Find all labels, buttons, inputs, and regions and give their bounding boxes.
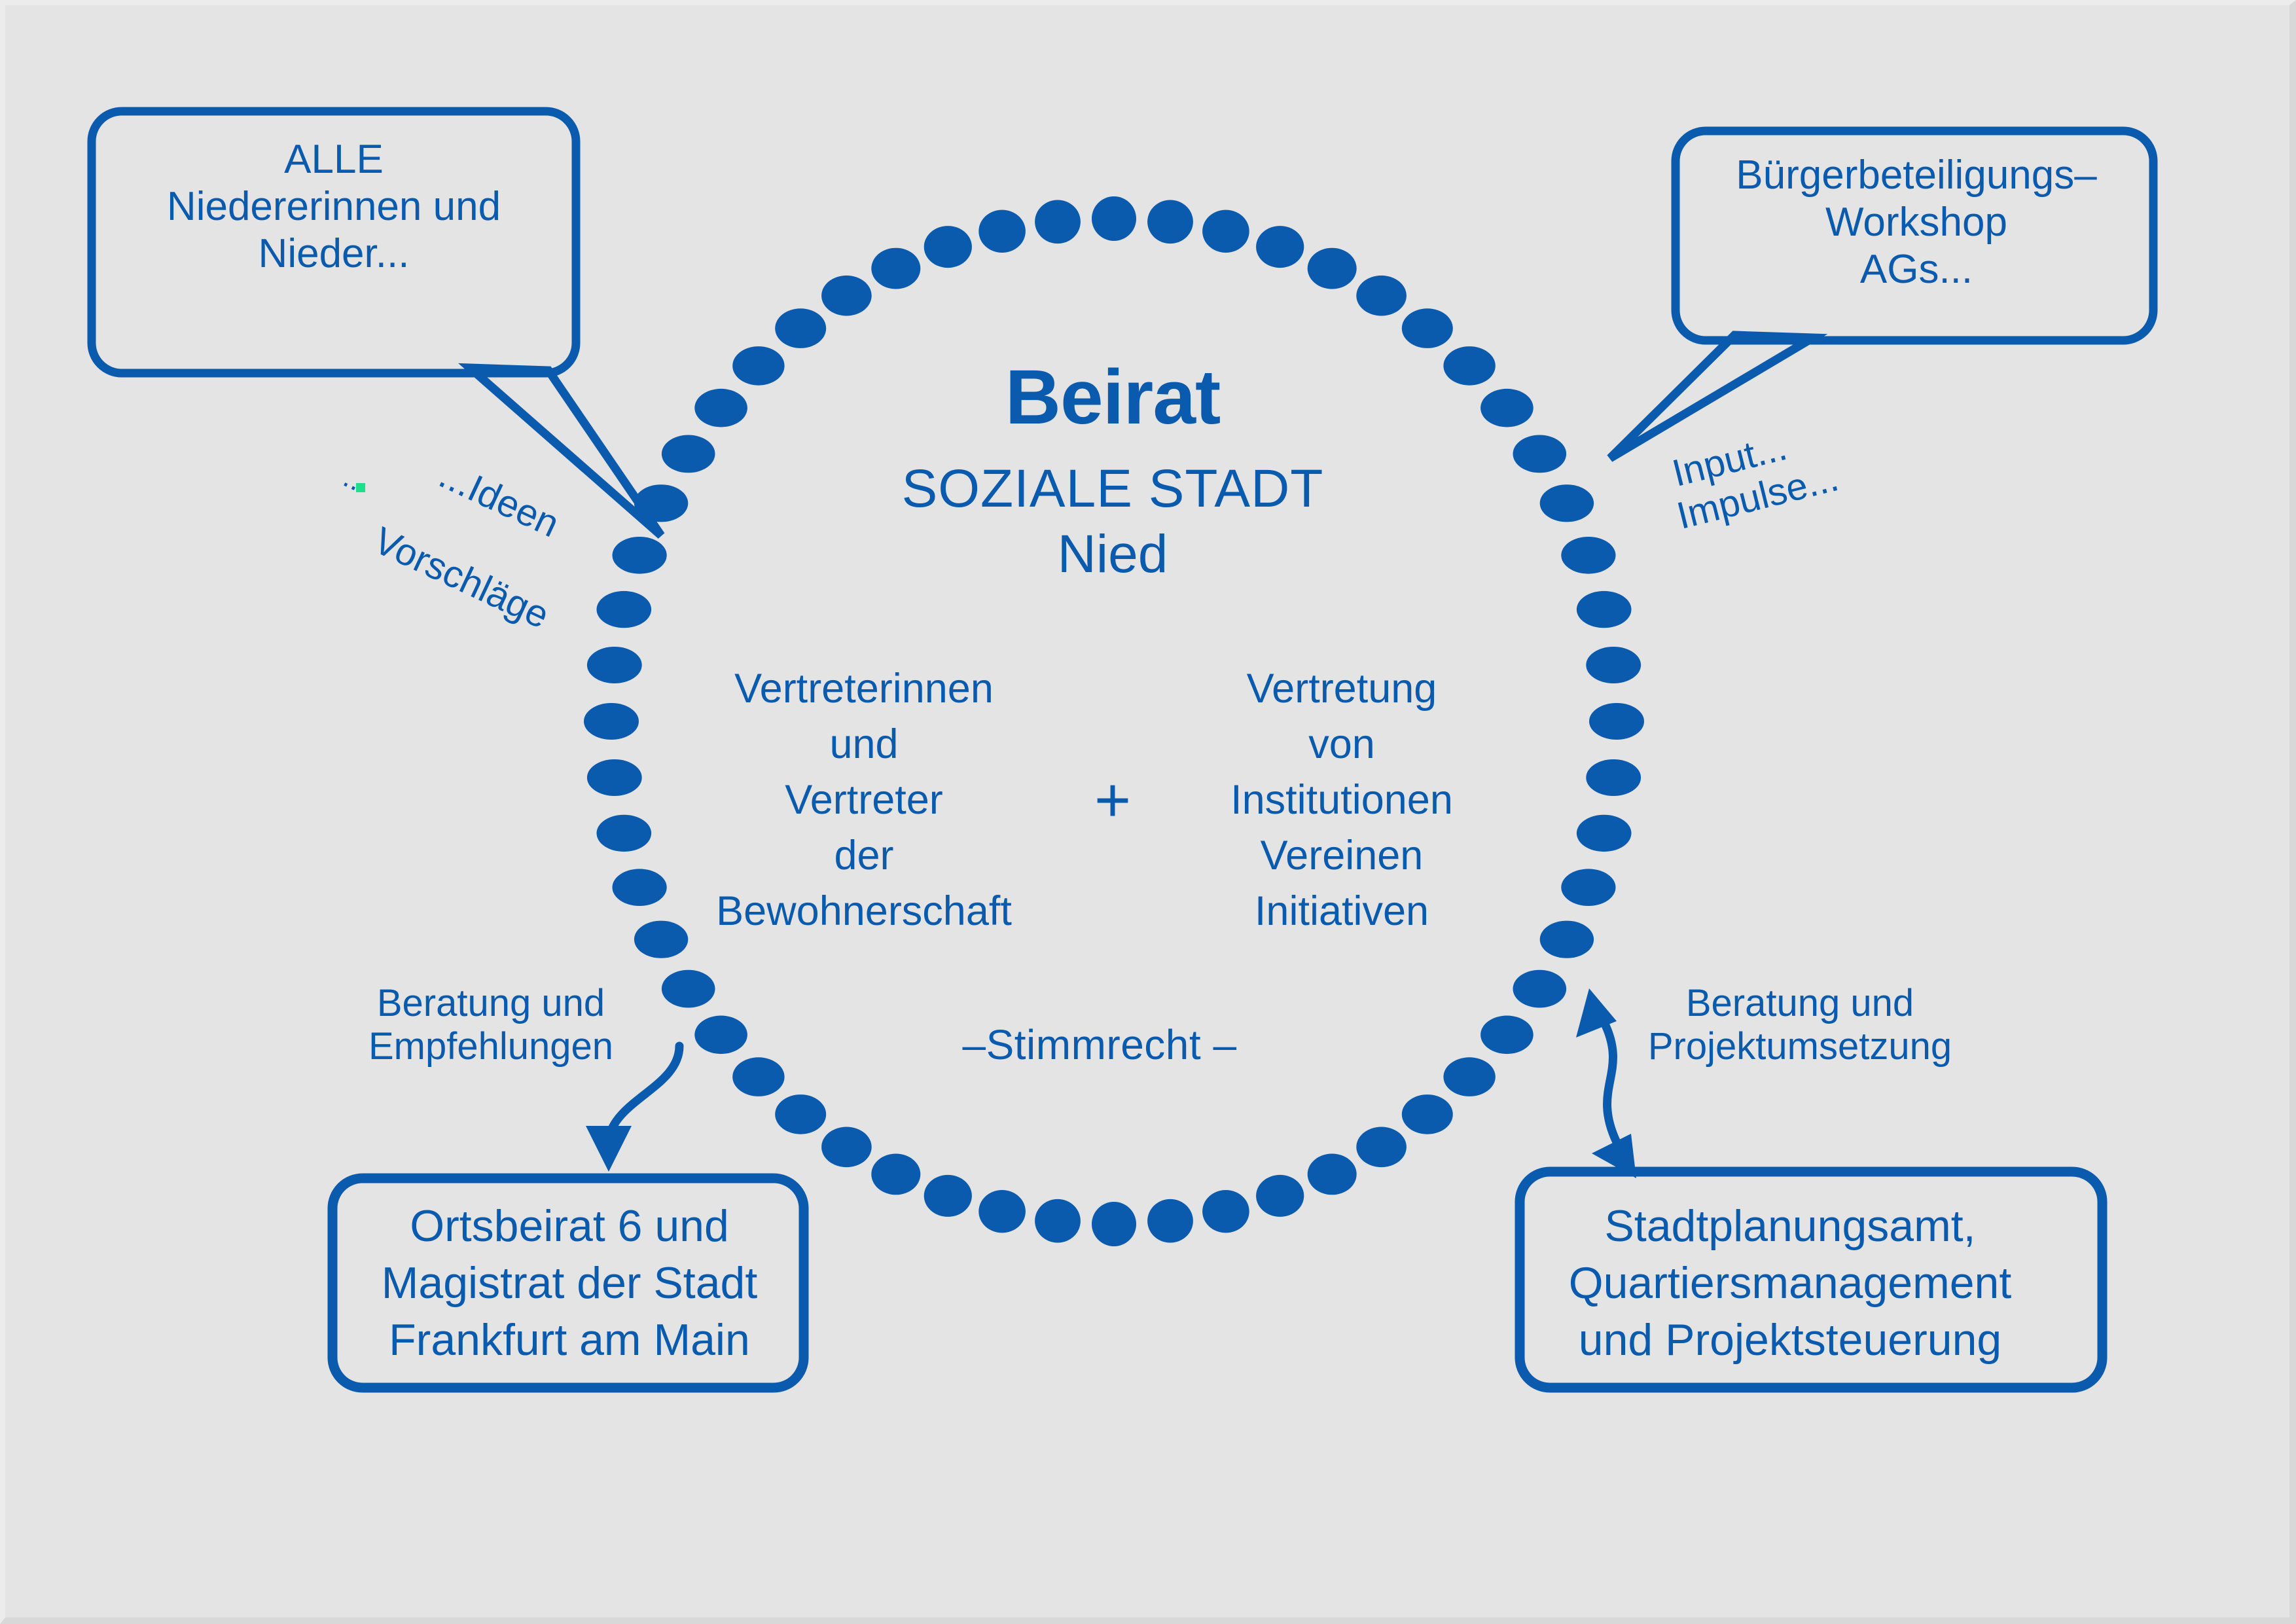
ring-dot <box>1202 210 1249 253</box>
ring-dot <box>1589 703 1644 740</box>
ring-dot <box>732 1057 784 1096</box>
ring-dot <box>1561 869 1615 906</box>
diagram-canvas: ALLE Niedererinnen und Nieder... Bürgerb… <box>0 0 2296 1624</box>
ring-dot <box>694 389 747 427</box>
ring-dot <box>1540 484 1594 522</box>
ring-dot <box>1561 537 1615 574</box>
ring-dot <box>1092 196 1136 241</box>
ring-dot <box>1586 647 1641 683</box>
ring-dot <box>587 759 642 796</box>
ring-dot <box>821 1127 872 1168</box>
ring-dot <box>1513 435 1567 473</box>
ring-dot <box>587 647 642 683</box>
ring-dot <box>978 210 1026 253</box>
ring-dot <box>1147 1199 1193 1243</box>
ring-dot <box>1202 1190 1249 1233</box>
speech-bubble-right-text: Bürgerbeteiligungs– Workshop AGs... <box>1687 152 2145 293</box>
ring-dot <box>1443 1057 1495 1096</box>
ring-dot <box>871 1154 920 1195</box>
ring-dot <box>1577 591 1632 628</box>
center-title: Beirat <box>812 353 1414 442</box>
annotation-beratung-empfehlungen: Beratung und Empfehlungen <box>327 982 655 1068</box>
center-column-right: Vertretung von Institutionen Vereinen In… <box>1178 661 1505 939</box>
plus-operator: + <box>1060 769 1165 832</box>
ring-dot <box>1035 1199 1081 1243</box>
ring-dot <box>775 1094 826 1134</box>
ring-dot <box>1308 1154 1357 1195</box>
ring-dot <box>821 276 872 316</box>
ring-dot <box>1577 815 1632 852</box>
ring-dot <box>1480 389 1534 427</box>
ring-dot <box>1356 276 1407 316</box>
ring-dot <box>1356 1127 1407 1168</box>
ring-dot <box>597 815 652 852</box>
ring-dot <box>1480 1016 1534 1055</box>
ring-dot <box>1147 200 1193 244</box>
ring-dot <box>694 1016 747 1055</box>
center-subtitle-line2: Nied <box>812 524 1414 585</box>
ring-dot <box>584 703 639 740</box>
ring-dot <box>924 226 972 268</box>
stimmrecht-label: –Stimmrecht – <box>916 1021 1283 1069</box>
ring-dot <box>1540 921 1594 958</box>
center-column-left: Vertreterinnen und Vertreter der Bewohne… <box>681 661 1047 939</box>
ring-dot <box>1256 226 1304 268</box>
ring-dot <box>634 921 688 958</box>
ring-dot <box>613 869 667 906</box>
ring-dot <box>1513 970 1567 1008</box>
ring-dot <box>1402 1094 1453 1134</box>
stray-green-marker <box>356 483 365 492</box>
ring-dot <box>662 970 715 1008</box>
box-stadtplanungsamt-label: Stadtplanungsamt, Quartiersmanagement un… <box>1505 1198 2075 1369</box>
ring-dot <box>1586 759 1641 796</box>
ring-dot <box>662 435 715 473</box>
ring-dot <box>1308 248 1357 289</box>
speech-bubble-left-text: ALLE Niedererinnen und Nieder... <box>105 136 563 278</box>
ring-dot <box>1092 1202 1136 1246</box>
annotation-beratung-projektumsetzung: Beratung und Projektumsetzung <box>1623 982 1977 1068</box>
ring-dot <box>1402 308 1453 348</box>
ring-dot <box>775 308 826 348</box>
ring-dot <box>1256 1175 1304 1217</box>
ring-dot <box>732 346 784 386</box>
ring-dot <box>613 537 667 574</box>
box-ortsbeirat-label: Ortsbeirat 6 und Magistrat der Stadt Fra… <box>340 1198 798 1369</box>
ring-dot <box>1443 346 1495 386</box>
ring-dot <box>924 1175 972 1217</box>
center-subtitle-line1: SOZIALE STADT <box>812 458 1414 519</box>
ring-dot <box>597 591 652 628</box>
ring-dot <box>978 1190 1026 1233</box>
ring-dot <box>871 248 920 289</box>
ring-dot <box>1035 200 1081 244</box>
